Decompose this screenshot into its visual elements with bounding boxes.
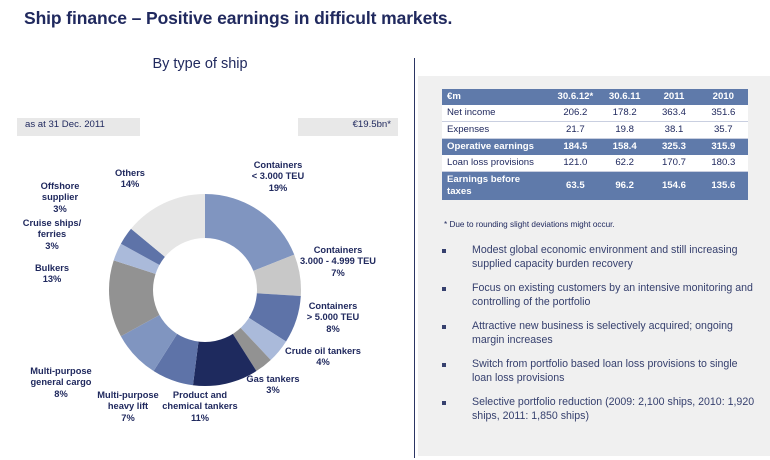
table-cell-value: 206.2 <box>551 105 600 122</box>
table-row-label: Net income <box>442 105 551 122</box>
table-cell-value: 351.6 <box>699 105 748 122</box>
table-cell-value: 325.3 <box>649 139 698 156</box>
table-row: Earnings before taxes63.596.2154.6135.6 <box>442 172 748 201</box>
table-cell-value: 96.2 <box>600 172 649 201</box>
table-row-label: Earnings before taxes <box>442 172 551 201</box>
table-cell-value: 19.8 <box>600 122 649 139</box>
financials-panel: €m 30.6.12* 30.6.11 2011 2010 Net income… <box>418 76 770 456</box>
table-header-h2: 30.6.11 <box>600 89 649 105</box>
pie-label-others: Others 14% <box>85 168 175 191</box>
table-cell-value: 180.3 <box>699 155 748 172</box>
pie-label-containers-3000-4999: Containers 3.000 - 4.999 TEU 7% <box>278 245 398 279</box>
table-header-unit: €m <box>442 89 551 105</box>
slide-root: Ship finance – Positive earnings in diff… <box>0 0 770 460</box>
pie-label-cruise-ships-ferries: Cruise ships/ ferries 3% <box>6 218 98 252</box>
donut-center-hole <box>153 238 257 342</box>
panel-divider <box>414 58 415 458</box>
table-cell-value: 154.6 <box>649 172 698 201</box>
pie-label-containers-lt3000: Containers < 3.000 TEU 19% <box>218 160 338 194</box>
table-cell-value: 158.4 <box>600 139 649 156</box>
table-row-label: Expenses <box>442 122 551 139</box>
table-cell-value: 170.7 <box>649 155 698 172</box>
key-point-text: Modest global economic environment and s… <box>472 244 738 270</box>
table-cell-value: 35.7 <box>699 122 748 139</box>
key-point-text: Attractive new business is selectively a… <box>472 320 733 346</box>
table-header-h3: 2011 <box>649 89 698 105</box>
table-cell-value: 63.5 <box>551 172 600 201</box>
key-point-item: Selective portfolio reduction (2009: 2,1… <box>440 396 760 423</box>
as-at-date-label: as at 31 Dec. 2011 <box>25 119 105 130</box>
table-cell-value: 184.5 <box>551 139 600 156</box>
chart-title: By type of ship <box>0 56 400 72</box>
table-footnote: * Due to rounding slight deviations migh… <box>444 220 615 229</box>
table-cell-value: 21.7 <box>551 122 600 139</box>
chart-panel: By type of ship as at 31 Dec. 2011 €19.5… <box>0 38 415 460</box>
key-point-text: Focus on existing customers by an intens… <box>472 282 753 308</box>
key-point-text: Selective portfolio reduction (2009: 2,1… <box>472 396 754 422</box>
key-point-item: Focus on existing customers by an intens… <box>440 282 760 309</box>
key-points-list: Modest global economic environment and s… <box>440 244 760 434</box>
key-point-item: Switch from portfolio based loan loss pr… <box>440 358 760 385</box>
key-point-item: Modest global economic environment and s… <box>440 244 760 271</box>
bullet-square-icon <box>442 325 446 329</box>
key-point-item: Attractive new business is selectively a… <box>440 320 760 347</box>
financials-table: €m 30.6.12* 30.6.11 2011 2010 Net income… <box>442 89 748 200</box>
table-cell-value: 62.2 <box>600 155 649 172</box>
table-row: Net income206.2178.2363.4351.6 <box>442 105 748 122</box>
table-row: Operative earnings184.5158.4325.3315.9 <box>442 139 748 156</box>
table-header-h1: 30.6.12* <box>551 89 600 105</box>
table-row: Expenses21.719.838.135.7 <box>442 122 748 139</box>
pie-label-multi-purpose-general-cargo: Multi-purpose general cargo 8% <box>12 366 110 400</box>
bullet-square-icon <box>442 363 446 367</box>
key-point-text: Switch from portfolio based loan loss pr… <box>472 358 738 384</box>
table-cell-value: 178.2 <box>600 105 649 122</box>
table-cell-value: 363.4 <box>649 105 698 122</box>
table-header-h4: 2010 <box>699 89 748 105</box>
pie-label-crude-oil-tankers: Crude oil tankers 4% <box>268 346 378 369</box>
total-exposure-label: €19.5bn* <box>298 119 391 130</box>
page-title: Ship finance – Positive earnings in diff… <box>24 8 452 29</box>
table-cell-value: 315.9 <box>699 139 748 156</box>
bullet-square-icon <box>442 287 446 291</box>
bullet-square-icon <box>442 249 446 253</box>
table-cell-value: 121.0 <box>551 155 600 172</box>
table-cell-value: 38.1 <box>649 122 698 139</box>
pie-label-bulkers: Bulkers 13% <box>6 263 98 286</box>
table-row-label: Operative earnings <box>442 139 551 156</box>
table-header-row: €m 30.6.12* 30.6.11 2011 2010 <box>442 89 748 105</box>
bullet-square-icon <box>442 401 446 405</box>
table-row-label: Loan loss provisions <box>442 155 551 172</box>
table-row: Loan loss provisions121.062.2170.7180.3 <box>442 155 748 172</box>
pie-label-containers-gt5000: Containers > 5.000 TEU 8% <box>278 301 388 335</box>
table-cell-value: 135.6 <box>699 172 748 201</box>
